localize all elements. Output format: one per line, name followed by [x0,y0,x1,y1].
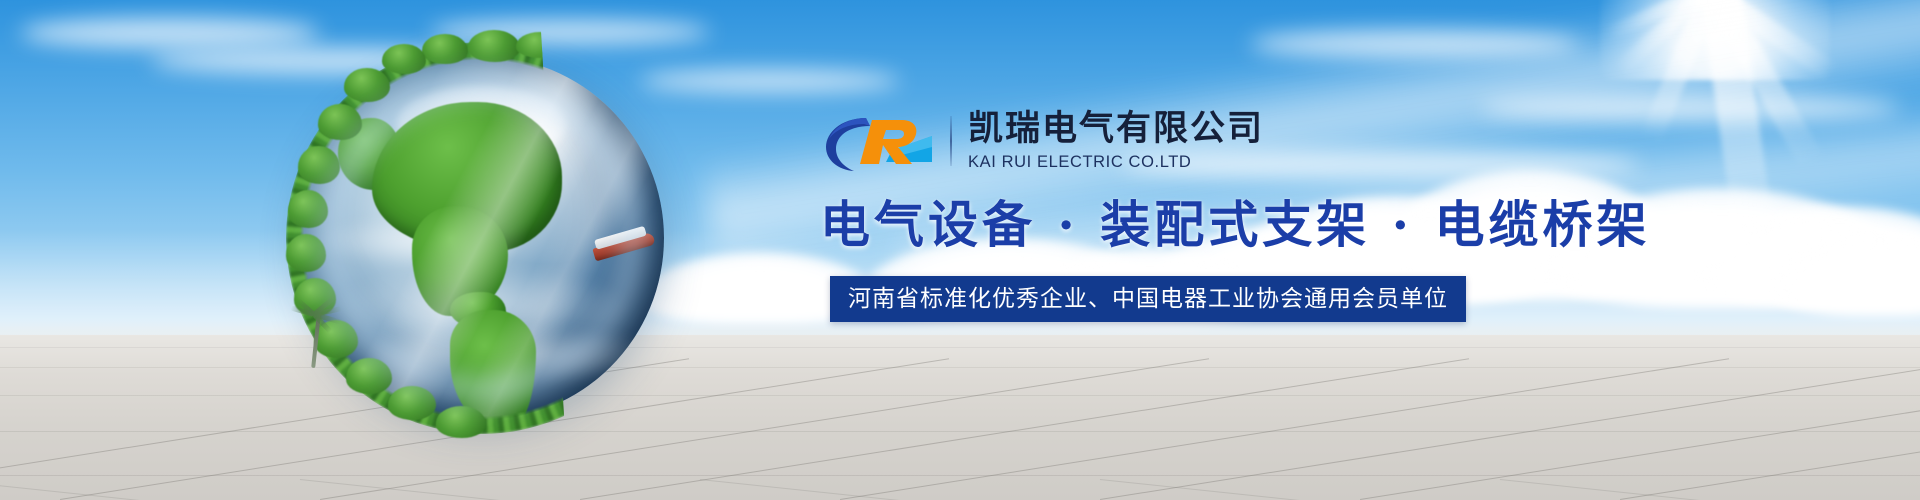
credentials-badge: 河南省标准化优秀企业、中国电器工业协会通用会员单位 [830,276,1466,322]
globe-glow [272,28,692,448]
kairui-cr-logo-icon [820,110,938,172]
company-name-en: KAI RUI ELECTRIC CO.LTD [968,151,1264,173]
green-earth-globe-icon [272,28,692,448]
hero-banner: 凯瑞电气有限公司 KAI RUI ELECTRIC CO.LTD 电气设备 · … [0,0,1920,500]
logo-divider [950,116,952,166]
banner-content: 凯瑞电气有限公司 KAI RUI ELECTRIC CO.LTD 电气设备 · … [820,104,1600,322]
company-name-cn: 凯瑞电气有限公司 [968,109,1264,149]
banner-slogan: 电气设备 · 装配式支架 · 电缆桥架 [820,194,1600,256]
brand-lockup: 凯瑞电气有限公司 KAI RUI ELECTRIC CO.LTD [820,104,1600,178]
brand-text: 凯瑞电气有限公司 KAI RUI ELECTRIC CO.LTD [968,109,1264,173]
